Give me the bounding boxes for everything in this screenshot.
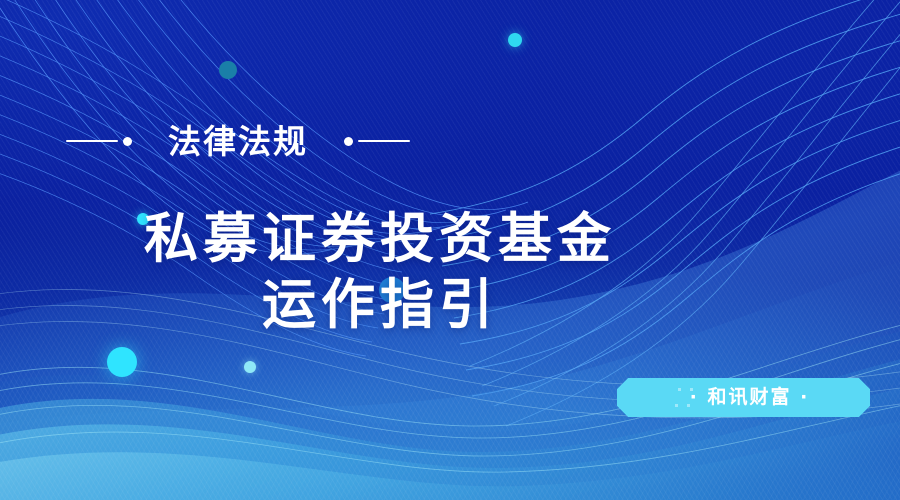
banner-content: 法律法规 私募证券投资基金 运作指引 · 和讯财富 · bbox=[0, 0, 900, 500]
eyebrow-decorator-right bbox=[344, 137, 410, 146]
title-line-1: 私募证券投资基金 bbox=[0, 206, 760, 272]
decorator-dot-icon bbox=[123, 137, 132, 146]
brand-label: · 和讯财富 · bbox=[690, 388, 810, 407]
brand-badge[interactable]: · 和讯财富 · bbox=[617, 378, 870, 417]
category-eyebrow-row: 法律法规 bbox=[66, 120, 410, 162]
badge-corner-pip-bottom-right bbox=[678, 388, 681, 391]
decorator-line-icon bbox=[358, 140, 410, 142]
eyebrow-decorator-left bbox=[66, 137, 132, 146]
decorator-line-icon bbox=[66, 140, 118, 142]
category-label: 法律法规 bbox=[168, 125, 308, 158]
decorator-dot-icon bbox=[344, 137, 353, 146]
badge-corner-pip-top-right bbox=[675, 404, 678, 407]
title-line-2: 运作指引 bbox=[0, 272, 760, 338]
main-title: 私募证券投资基金 运作指引 bbox=[0, 206, 760, 338]
promo-banner: 法律法规 私募证券投资基金 运作指引 · 和讯财富 · bbox=[0, 0, 900, 500]
